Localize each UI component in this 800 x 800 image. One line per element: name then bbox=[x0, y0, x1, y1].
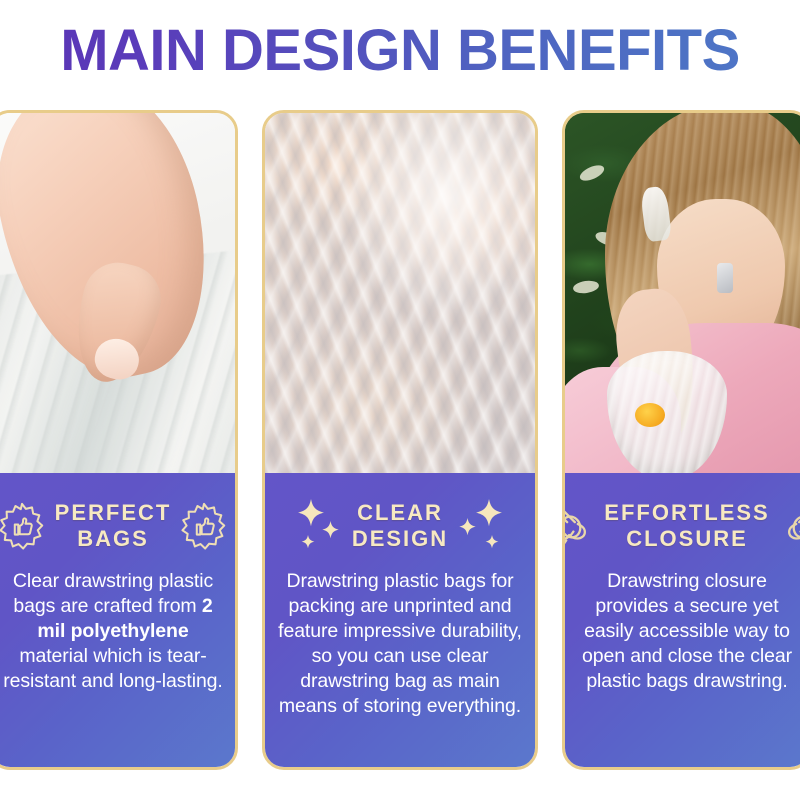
page-title: MAIN DESIGN BENEFITS bbox=[0, 22, 800, 80]
card-panel: EFFORTLESS CLOSURE Drawstring closure bbox=[565, 473, 800, 767]
card-body-pre: Drawstring plastic bags for packing are … bbox=[278, 570, 522, 717]
benefit-card-effortless-closure: EFFORTLESS CLOSURE Drawstring closure bbox=[562, 110, 800, 770]
card-title-line2: BAGS bbox=[77, 526, 149, 551]
benefit-card-clear-design: CLEAR DESIGN Drawstring plastic bags for… bbox=[262, 110, 538, 770]
card-title: EFFORTLESS CLOSURE bbox=[604, 500, 769, 552]
card-body: Clear drawstring plastic bags are crafte… bbox=[0, 563, 227, 694]
benefit-card-perfect-bags: PERFECT BAGS Clear drawstring plastic ba… bbox=[0, 110, 238, 770]
card-panel: PERFECT BAGS Clear drawstring plastic ba… bbox=[0, 473, 235, 767]
thumbs-up-badge-icon bbox=[177, 496, 231, 556]
rope-knot-icon bbox=[776, 496, 800, 556]
card-title-line1: CLEAR bbox=[357, 500, 443, 525]
card-title-line1: EFFORTLESS bbox=[604, 500, 769, 525]
card-body-pre: Clear drawstring plastic bags are crafte… bbox=[13, 570, 213, 617]
card-body-post: material which is tear-resistant and lon… bbox=[3, 645, 223, 692]
card-title-line1: PERFECT bbox=[55, 500, 172, 525]
card-photo-crumpled-clear-film bbox=[265, 113, 535, 473]
card-photo-girl-with-drawstring-bag bbox=[565, 113, 800, 473]
card-header: CLEAR DESIGN bbox=[273, 489, 527, 563]
card-body: Drawstring plastic bags for packing are … bbox=[273, 563, 527, 719]
benefit-card-row: PERFECT BAGS Clear drawstring plastic ba… bbox=[0, 110, 800, 772]
card-photo-hand-with-plastic-sheet bbox=[0, 113, 235, 473]
card-title: PERFECT BAGS bbox=[55, 500, 172, 552]
card-header: PERFECT BAGS bbox=[0, 489, 227, 563]
card-body: Drawstring closure provides a secure yet… bbox=[573, 563, 800, 694]
card-header: EFFORTLESS CLOSURE bbox=[573, 489, 800, 563]
thumbs-up-badge-icon bbox=[0, 496, 49, 556]
sparkles-icon bbox=[292, 496, 346, 556]
rope-knot-icon bbox=[562, 496, 598, 556]
card-panel: CLEAR DESIGN Drawstring plastic bags for… bbox=[265, 473, 535, 767]
card-body-pre: Drawstring closure provides a secure yet… bbox=[582, 570, 792, 692]
sparkles-icon bbox=[454, 496, 508, 556]
card-title-line2: CLOSURE bbox=[626, 526, 748, 551]
card-title-line2: DESIGN bbox=[352, 526, 448, 551]
card-title: CLEAR DESIGN bbox=[352, 500, 448, 552]
